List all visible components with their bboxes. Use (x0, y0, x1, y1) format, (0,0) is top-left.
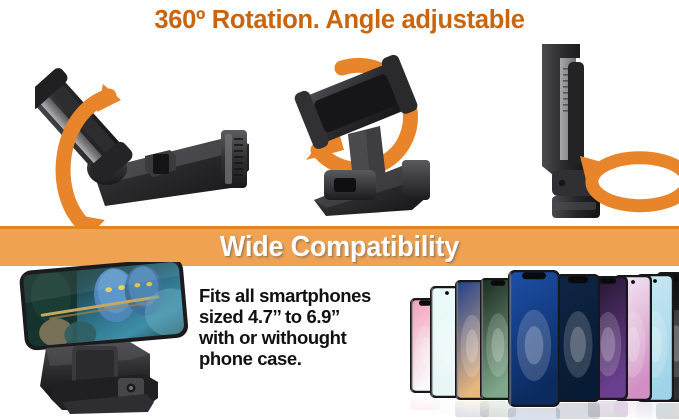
tilt-mount-illustration (35, 38, 260, 226)
banner-title: Wide Compatibility (24, 229, 655, 266)
compatibility-section: Fits all smartphones sized 4.7’’ to 6.9’… (0, 266, 679, 420)
fit-line-1: Fits all smartphones (199, 286, 414, 307)
product-marketing-image: 360º Rotation. Angle adjustable (0, 0, 679, 420)
rotation-feature-section: 360º Rotation. Angle adjustable (0, 0, 679, 226)
phone-iphone-12-dark (556, 274, 600, 402)
phone-iphone-12-blue (508, 270, 560, 407)
stand-base (40, 342, 158, 414)
fit-line-4: phone case. (199, 349, 414, 370)
product-image-rotating-clamp (262, 38, 462, 226)
rotating-clamp-illustration (262, 38, 462, 226)
fit-description: Fits all smartphones sized 4.7’’ to 6.9’… (199, 286, 414, 370)
product-image-tilt-mount (35, 38, 260, 226)
wide-compatibility-banner: Wide Compatibility (0, 229, 679, 266)
fit-line-2: sized 4.7’’ to 6.9’’ (199, 307, 414, 328)
page-title: 360º Rotation. Angle adjustable (0, 6, 679, 35)
vertical-stand-illustration (468, 38, 679, 226)
phone-lineup-illustration (408, 264, 679, 420)
compatible-phones-fan (408, 264, 679, 420)
swivel-arrow-icon (580, 156, 679, 206)
fit-line-3: with or withought (199, 328, 414, 349)
phone-on-stand-photo (18, 262, 208, 420)
product-image-vertical-stand (468, 38, 679, 226)
phone-on-stand-illustration (18, 262, 208, 420)
